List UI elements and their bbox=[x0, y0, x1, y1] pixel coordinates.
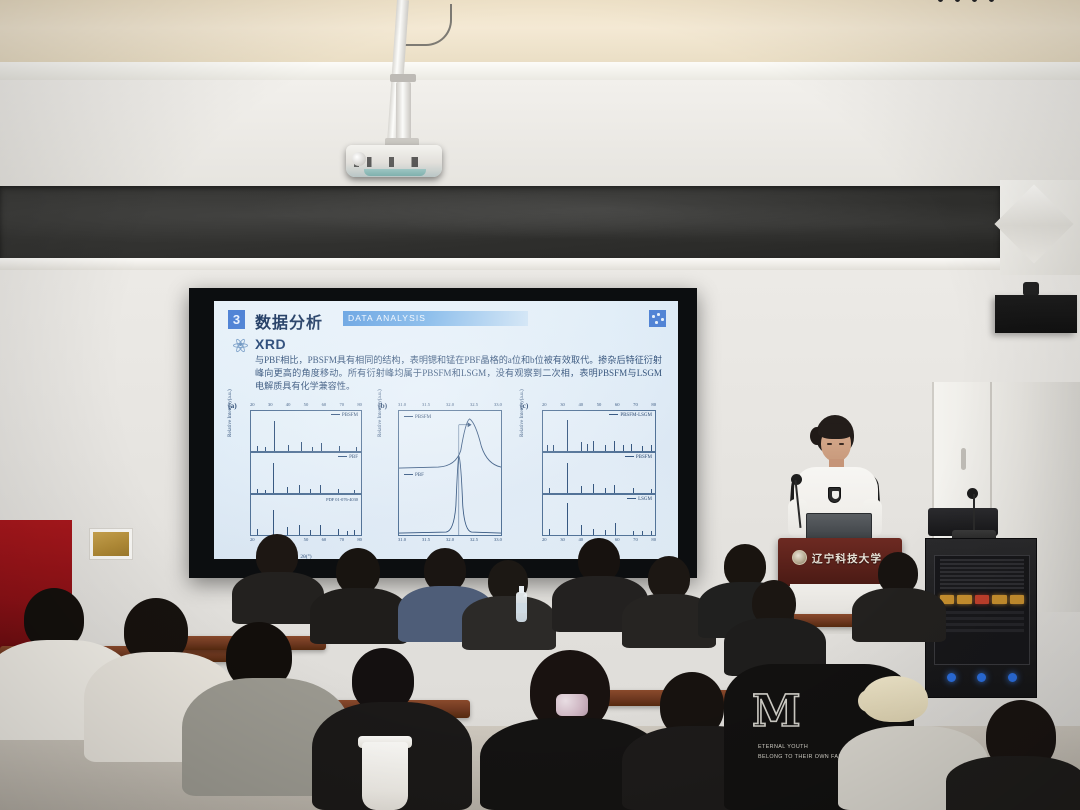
chart-c-subplot-1: PBSFM-LSGM bbox=[542, 410, 656, 452]
coffee-cup[interactable] bbox=[362, 742, 408, 810]
chart-c-ylabel: Relative Intensity(a.u.) bbox=[519, 389, 525, 437]
slide-header: 3 数据分析 DATA ANALYSIS bbox=[228, 310, 666, 332]
chalkboard bbox=[0, 186, 1000, 261]
chart-panel-b: (b) Relative Intensity(a.u.) 31.031.532.… bbox=[378, 401, 508, 551]
chart-a-legend-pbsfm: PBSFM bbox=[331, 413, 358, 418]
audience-shoulders bbox=[946, 756, 1080, 810]
chart-a-subplot-1: PBSFM bbox=[250, 410, 362, 452]
audience-shoulders bbox=[462, 596, 556, 650]
speaker-mount bbox=[1023, 282, 1039, 296]
wall-plaque bbox=[93, 532, 129, 556]
projector-pole-lower bbox=[396, 82, 411, 142]
chart-b-xticks-bottom: 31.031.532.032.533.0 bbox=[398, 537, 502, 542]
slide-title-en: DATA ANALYSIS bbox=[348, 313, 426, 323]
audience-shoulders bbox=[852, 588, 946, 642]
slide-body-text: 与PBF相比，PBSFM具有相同的结构，表明锶和锰在PBF晶格的a位和b位被有效… bbox=[255, 354, 662, 394]
chart-c-subplot-2: PBSFM bbox=[542, 452, 656, 494]
slide-subsection-title: XRD bbox=[255, 336, 286, 352]
water-bottle[interactable] bbox=[516, 592, 527, 622]
rack-ventilation-grill bbox=[940, 559, 1024, 589]
chart-a-legend-pbf: PBF bbox=[338, 455, 358, 460]
wall-speaker-icon bbox=[995, 295, 1077, 333]
slide-title-cn: 数据分析 bbox=[255, 309, 323, 333]
chart-panel-c: (c) Relative Intensity(a.u.) 20304050607… bbox=[520, 401, 662, 551]
hoodie-tagline-line1: ETERNAL YOUTH bbox=[758, 744, 808, 750]
audience-shoulders bbox=[310, 588, 408, 644]
bottle-label bbox=[516, 603, 527, 613]
ceiling-lip bbox=[0, 62, 1080, 82]
chart-a-subplot-3: PDF 01-076-4030 bbox=[250, 494, 362, 536]
chart-a-subplot-2: PBF bbox=[250, 452, 362, 494]
baseball-cap bbox=[862, 676, 928, 722]
atom-icon bbox=[233, 337, 248, 352]
rack-blue-indicators bbox=[936, 671, 1028, 683]
chart-a-xticks: 20304050607080 bbox=[250, 402, 362, 407]
chart-a-ylabel: Relative Intensity(a.u.) bbox=[227, 389, 233, 437]
chart-b-plot: PBSFM PBF bbox=[398, 410, 502, 536]
projector-pole-collar bbox=[390, 74, 416, 82]
chart-b-curves bbox=[399, 411, 501, 535]
door-handle[interactable] bbox=[961, 448, 966, 470]
chart-b-ylabel: Relative Intensity(a.u.) bbox=[377, 389, 383, 437]
presentation-slide: 3 数据分析 DATA ANALYSIS XRD 与PBF相比，PBSFM具有相… bbox=[214, 301, 678, 559]
projector-lens-icon bbox=[352, 152, 366, 166]
slide-title-banner: DATA ANALYSIS bbox=[343, 311, 528, 326]
chart-c-legend-pbsfm-lsgm: PBSFM-LSGM bbox=[609, 413, 652, 418]
slide-section-number: 3 bbox=[228, 310, 245, 329]
university-emblem-icon bbox=[792, 550, 807, 565]
slide-corner-dots-icon bbox=[649, 310, 666, 327]
presenter-fringe bbox=[818, 423, 853, 439]
podium-university-name: 辽宁科技大学 bbox=[812, 551, 882, 566]
upper-wall bbox=[0, 80, 1080, 190]
chart-c-subplot-3: LSGM bbox=[542, 494, 656, 536]
laptop[interactable] bbox=[806, 513, 872, 541]
presenter-eye-right bbox=[839, 443, 844, 445]
hair-clip bbox=[556, 694, 588, 716]
projection-screen: 3 数据分析 DATA ANALYSIS XRD 与PBF相比，PBSFM具有相… bbox=[189, 288, 697, 578]
chart-b-xticks: 31.031.532.032.533.0 bbox=[398, 402, 502, 407]
chart-c-legend-lsgm: LSGM bbox=[627, 497, 652, 502]
slide-charts-row: (a) Relative Intensity(a.u.) 20304050607… bbox=[228, 401, 668, 551]
chart-c-xticks: 20304050607080 bbox=[542, 402, 656, 407]
ceiling bbox=[0, 0, 1080, 70]
hoodie-logo: M bbox=[752, 686, 803, 737]
chart-panel-a: (a) Relative Intensity(a.u.) 20304050607… bbox=[228, 401, 368, 551]
chart-a-legend-pdf: PDF 01-076-4030 bbox=[326, 497, 358, 502]
rack-panel-row bbox=[940, 611, 1024, 633]
sweatshirt-crest-icon bbox=[828, 487, 841, 503]
lecture-hall-photo: 3 数据分析 DATA ANALYSIS XRD 与PBF相比，PBSFM具有相… bbox=[0, 0, 1080, 810]
rack-led-row bbox=[940, 595, 1024, 604]
chart-c-legend-pbsfm: PBSFM bbox=[625, 455, 652, 460]
presenter-eye-left bbox=[827, 443, 832, 445]
